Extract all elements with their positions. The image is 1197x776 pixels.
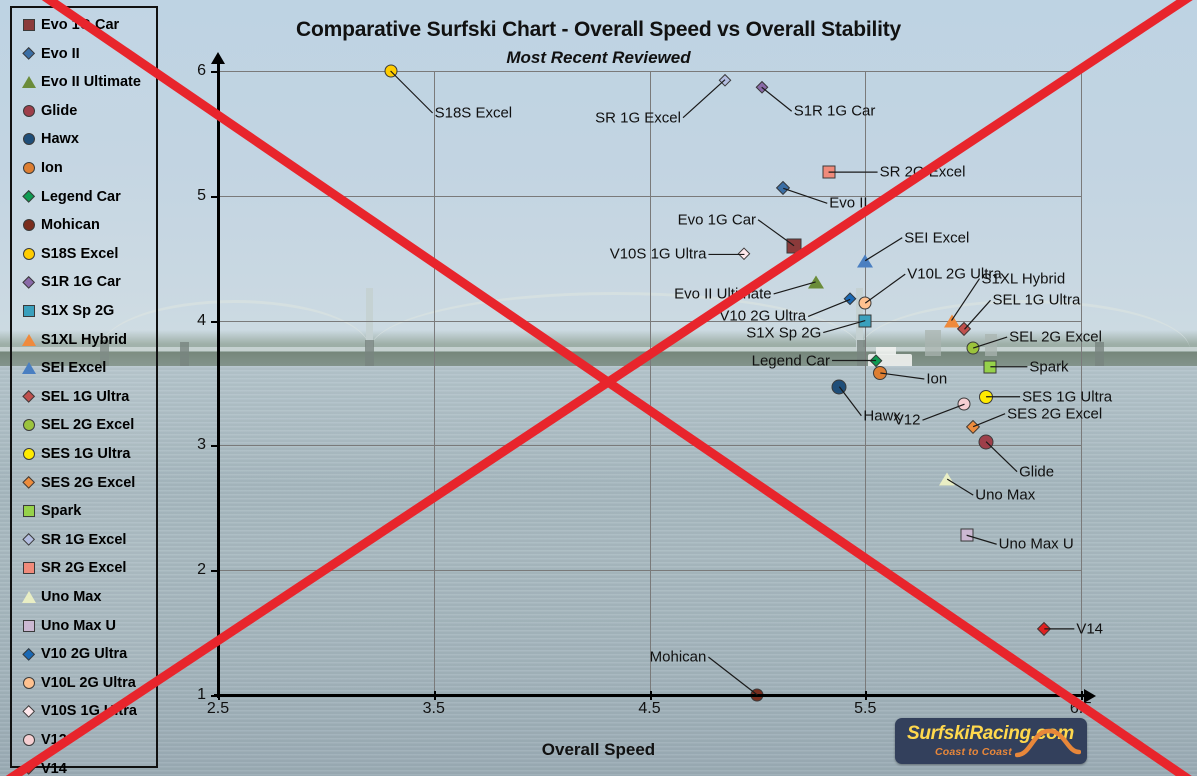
data-point-marker[interactable] — [1037, 622, 1051, 636]
x-axis-tick — [434, 691, 436, 700]
legend-item-label: S18S Excel — [41, 246, 118, 262]
legend-item[interactable]: SR 1G Excel — [18, 529, 126, 551]
data-point-marker[interactable] — [984, 360, 997, 373]
data-point-label: SEL 1G Ultra — [992, 292, 1080, 309]
y-axis-tick — [211, 71, 219, 73]
legend-item-label: V10L 2G Ultra — [41, 675, 136, 691]
legend-marker-icon — [18, 478, 40, 487]
data-point-label: Uno Max — [975, 487, 1035, 504]
y-axis — [217, 60, 220, 698]
gridline-horizontal — [218, 445, 1081, 446]
legend-marker-icon — [18, 49, 40, 58]
data-point-marker[interactable] — [822, 166, 835, 179]
legend-marker-icon — [18, 620, 40, 632]
legend-item[interactable]: S1X Sp 2G — [18, 300, 114, 322]
data-point-marker[interactable] — [808, 275, 824, 288]
y-axis-tick — [211, 196, 219, 198]
legend-marker-icon — [18, 677, 40, 689]
x-axis-tick — [218, 691, 220, 700]
legend-item[interactable]: V10 2G Ultra — [18, 643, 127, 665]
legend-item-label: Ion — [41, 160, 63, 176]
legend-marker-icon — [18, 162, 40, 174]
legend-item-label: S1R 1G Car — [41, 274, 121, 290]
data-point-marker[interactable] — [967, 342, 980, 355]
bridge-pier — [1095, 342, 1104, 368]
legend-marker-icon — [18, 248, 40, 260]
gridline-horizontal — [218, 196, 1081, 197]
legend-item-label: SES 2G Excel — [41, 475, 135, 491]
data-point-label: SES 2G Excel — [1007, 405, 1102, 422]
legend-item[interactable]: Glide — [18, 100, 77, 122]
y-axis-tick — [211, 321, 219, 323]
legend-item[interactable]: Spark — [18, 500, 81, 522]
legend-item-label: S1XL Hybrid — [41, 332, 127, 348]
legend-item[interactable]: Evo II Ultimate — [18, 71, 141, 93]
legend-item[interactable]: Hawx — [18, 128, 79, 150]
legend-item-label: S1X Sp 2G — [41, 303, 114, 319]
data-point-label: V12 — [894, 412, 921, 429]
chart-legend[interactable]: Evo 1G CarEvo IIEvo II UltimateGlideHawx… — [10, 6, 158, 768]
data-point-label: Legend Car — [752, 352, 830, 369]
x-axis-tick-label: 3.5 — [423, 700, 445, 718]
legend-item-label: Glide — [41, 103, 77, 119]
legend-item-label: Uno Max U — [41, 618, 116, 634]
legend-marker-icon — [18, 19, 40, 31]
data-point-marker[interactable] — [966, 420, 980, 434]
legend-marker-icon — [18, 707, 40, 716]
y-axis-tick-label: 2 — [172, 561, 206, 579]
legend-item[interactable]: SES 2G Excel — [18, 472, 135, 494]
legend-item-label: Hawx — [41, 131, 79, 147]
data-point-marker[interactable] — [859, 314, 872, 327]
data-point-label: S1XL Hybrid — [982, 270, 1066, 287]
data-point-label: Mohican — [650, 649, 707, 666]
legend-item-label: V10 2G Ultra — [41, 646, 127, 662]
data-point-label: Uno Max U — [999, 536, 1074, 553]
legend-marker-icon — [18, 305, 40, 317]
legend-marker-icon — [18, 362, 40, 374]
legend-item-label: Uno Max — [41, 589, 101, 605]
data-point-marker[interactable] — [844, 293, 857, 306]
data-point-label: Evo 1G Car — [678, 211, 756, 228]
legend-item[interactable]: Ion — [18, 157, 63, 179]
legend-item-label: SR 1G Excel — [41, 532, 126, 548]
legend-item[interactable]: Evo II — [18, 43, 80, 65]
legend-item-label: SEL 1G Ultra — [41, 389, 129, 405]
data-point-marker[interactable] — [859, 297, 872, 310]
legend-item-label: Legend Car — [41, 189, 121, 205]
data-point-label: SEI Excel — [904, 229, 969, 246]
y-axis-arrow-icon — [211, 52, 225, 64]
y-axis-tick-label: 4 — [172, 312, 206, 330]
x-axis-tick-label: 2.5 — [207, 700, 229, 718]
y-axis-tick-label: 6 — [172, 62, 206, 80]
legend-marker-icon — [18, 448, 40, 460]
legend-marker-icon — [18, 650, 40, 659]
gridline-vertical — [434, 71, 435, 695]
legend-item-label: Spark — [41, 503, 81, 519]
x-axis-tick-label: 4.5 — [638, 700, 660, 718]
data-point-label: S1X Sp 2G — [746, 324, 821, 341]
legend-item[interactable]: Uno Max — [18, 586, 101, 608]
legend-item-label: Evo II Ultimate — [41, 74, 141, 90]
gridline-vertical — [650, 71, 651, 695]
data-point-marker[interactable] — [857, 254, 873, 267]
x-axis-tick — [1081, 691, 1083, 700]
legend-item-label: Mohican — [41, 217, 100, 233]
data-point-marker[interactable] — [719, 74, 731, 86]
legend-marker-icon — [18, 105, 40, 117]
x-axis-tick — [865, 691, 867, 700]
gridline-horizontal — [218, 570, 1081, 571]
legend-marker-icon — [18, 334, 40, 346]
bridge-pier — [180, 342, 189, 368]
legend-item[interactable]: S18S Excel — [18, 243, 118, 265]
x-axis-tick-label: 5.5 — [854, 700, 876, 718]
legend-marker-icon — [18, 133, 40, 145]
legend-marker-icon — [18, 392, 40, 401]
legend-item[interactable]: SR 2G Excel — [18, 557, 126, 579]
legend-item-label: Evo II — [41, 46, 80, 62]
y-axis-tick-label: 3 — [172, 436, 206, 454]
legend-item-label: SEL 2G Excel — [41, 417, 134, 433]
legend-item[interactable]: SEI Excel — [18, 357, 106, 379]
data-point-label: Ion — [926, 371, 947, 388]
legend-item-label: SES 1G Ultra — [41, 446, 130, 462]
surfskiracing-logo[interactable]: SurfskiRacing.com Coast to Coast — [895, 718, 1087, 764]
data-point-label: V14 — [1076, 620, 1103, 637]
x-axis-tick — [650, 691, 652, 700]
logo-tagline: Coast to Coast — [935, 746, 1012, 758]
data-point-marker[interactable] — [756, 81, 768, 93]
y-axis-tick-label: 1 — [172, 686, 206, 704]
gridline-vertical — [1081, 71, 1082, 695]
data-point-marker[interactable] — [944, 314, 960, 327]
data-point-marker[interactable] — [832, 379, 847, 394]
data-point-marker[interactable] — [776, 181, 790, 195]
legend-marker-icon — [18, 562, 40, 574]
legend-marker-icon — [18, 219, 40, 231]
data-point-label: S18S Excel — [435, 105, 513, 122]
legend-marker-icon — [18, 505, 40, 517]
legend-item[interactable]: S1R 1G Car — [18, 271, 121, 293]
data-point-marker[interactable] — [873, 366, 887, 380]
chart-screenshot: Comparative Surfski Chart - Overall Spee… — [0, 0, 1197, 776]
legend-item[interactable]: SES 1G Ultra — [18, 443, 130, 465]
data-point-marker[interactable] — [960, 529, 973, 542]
data-point-label: SEL 2G Excel — [1009, 329, 1102, 346]
data-point-label: S1R 1G Car — [794, 103, 876, 120]
y-axis-tick — [211, 445, 219, 447]
legend-item[interactable]: V10L 2G Ultra — [18, 672, 136, 694]
legend-item-label: SEI Excel — [41, 360, 106, 376]
page-title: Comparative Surfski Chart - Overall Spee… — [0, 18, 1197, 42]
data-point-marker[interactable] — [939, 473, 955, 486]
legend-item[interactable]: Legend Car — [18, 186, 121, 208]
legend-marker-icon — [18, 734, 40, 746]
legend-marker-icon — [18, 591, 40, 603]
legend-marker-icon — [18, 278, 40, 287]
y-axis-tick — [211, 570, 219, 572]
data-point-label: V10S 1G Ultra — [610, 246, 707, 263]
gridline-horizontal — [218, 71, 1081, 72]
legend-item-label: V14 — [41, 761, 67, 776]
y-axis-tick-label: 5 — [172, 187, 206, 205]
legend-marker-icon — [18, 535, 40, 544]
wave-swoosh-icon — [1015, 724, 1081, 760]
legend-item[interactable]: Mohican — [18, 214, 100, 236]
legend-item[interactable]: SEL 1G Ultra — [18, 386, 129, 408]
data-point-label: Spark — [1029, 358, 1068, 375]
data-point-marker[interactable] — [738, 248, 751, 261]
legend-item[interactable]: SEL 2G Excel — [18, 414, 134, 436]
data-point-marker[interactable] — [384, 65, 397, 78]
legend-item-label: SR 2G Excel — [41, 560, 126, 576]
data-point-label: SR 1G Excel — [595, 109, 681, 126]
legend-marker-icon — [18, 192, 40, 201]
legend-marker-icon — [18, 419, 40, 431]
legend-item[interactable]: Uno Max U — [18, 615, 116, 637]
data-point-marker[interactable] — [958, 398, 971, 411]
data-point-label: SES 1G Ultra — [1022, 388, 1112, 405]
gridline-vertical — [865, 71, 866, 695]
data-point-marker[interactable] — [979, 434, 994, 449]
data-point-label: Glide — [1019, 463, 1054, 480]
legend-marker-icon — [18, 76, 40, 88]
data-point-label: V10 2G Ultra — [719, 308, 806, 325]
data-point-marker[interactable] — [979, 390, 993, 404]
legend-item[interactable]: S1XL Hybrid — [18, 329, 127, 351]
